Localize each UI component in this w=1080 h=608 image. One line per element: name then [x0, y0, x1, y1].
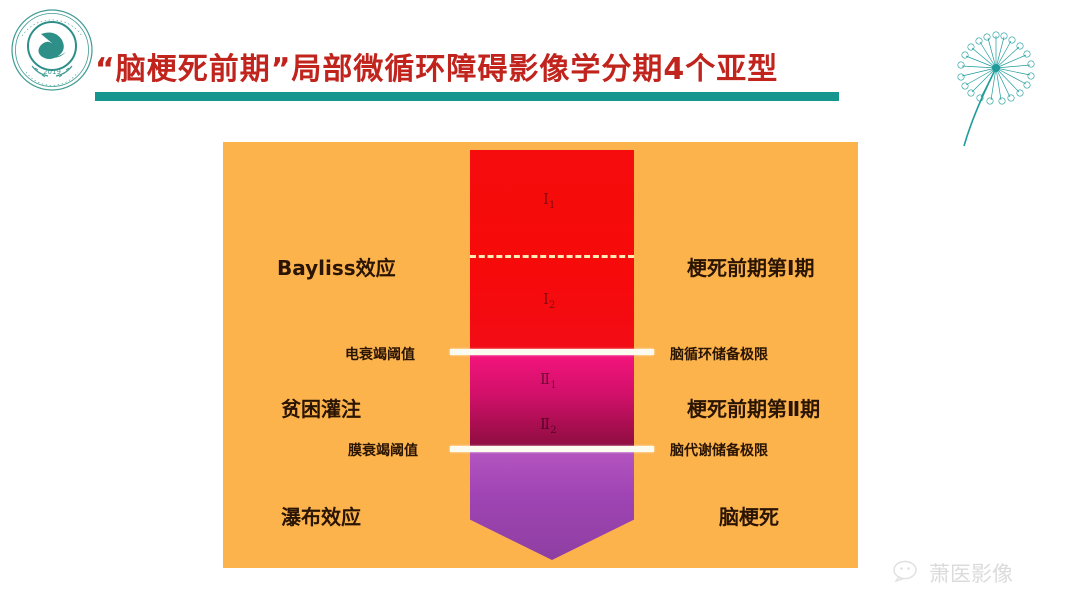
bar-label-ii1-sub: 1 [550, 380, 556, 391]
bar-segment-stage-1 [470, 150, 634, 350]
bar-label-i2-sub: 2 [549, 300, 555, 311]
bar-label-ii2: Ⅱ2 [540, 415, 557, 436]
bar-segment-infarction [470, 451, 634, 560]
label-cerebral-infarction: 脑梗死 [719, 501, 779, 530]
label-poor-perfusion: 贫困灌注 [281, 393, 361, 422]
perfusion-bar [470, 150, 634, 560]
page-title: “脑梗死前期”局部微循环障碍影像学分期4个亚型 [95, 44, 855, 88]
bar-label-i1: Ⅰ1 [543, 190, 555, 211]
title-underline-rule [95, 92, 839, 101]
wechat-bubble-icon [893, 560, 923, 587]
logo-year: 2019 [43, 68, 61, 76]
label-electrical-threshold: 电衰竭阈值 [345, 344, 415, 364]
bar-label-ii1: Ⅱ1 [540, 370, 557, 391]
bar-label-ii1-roman: Ⅱ [540, 370, 550, 388]
bar-label-ii2-sub: 2 [550, 425, 556, 436]
threshold-line-membrane [450, 446, 654, 452]
threshold-line-electrical [450, 349, 654, 355]
dashed-divider [470, 255, 634, 258]
dandelion-illustration [938, 22, 1058, 162]
label-cascade-effect: 瀑布效应 [281, 501, 361, 530]
watermark: 萧医影像 [893, 558, 1013, 588]
label-circulation-reserve-limit: 脑循环储备极限 [670, 344, 768, 364]
watermark-text: 萧医影像 [929, 558, 1013, 588]
label-membrane-threshold: 膜衰竭阈值 [348, 440, 418, 460]
label-preinfarction-stage-2: 梗死前期第Ⅱ期 [687, 393, 820, 422]
bar-label-ii2-roman: Ⅱ [540, 415, 550, 433]
label-preinfarction-stage-1: 梗死前期第Ⅰ期 [687, 252, 814, 281]
bar-label-i2: Ⅰ2 [543, 290, 555, 311]
bar-label-i1-sub: 1 [549, 200, 555, 211]
label-metabolic-reserve-limit: 脑代谢储备极限 [670, 440, 768, 460]
slide-canvas: 2019 “脑梗死前期”局部微循环障碍影像学分期4个亚型 [0, 0, 1080, 608]
hospital-seal-logo: 2019 [8, 6, 96, 98]
label-bayliss-effect: Bayliss效应 [277, 252, 396, 281]
